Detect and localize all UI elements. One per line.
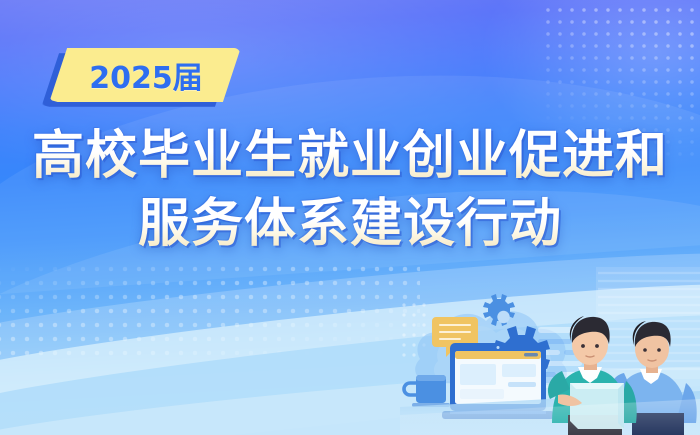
page-title-line-1: 高校毕业生就业创业促进和 [0, 122, 700, 190]
year-badge: 2025届 [50, 48, 240, 102]
year-badge-label: 2025届 [50, 48, 240, 102]
promo-banner: 2025届 高校毕业生就业创业促进和 服务体系建设行动 [0, 0, 700, 435]
page-title-line-2: 服务体系建设行动 [0, 190, 700, 258]
coffee-mug [404, 375, 450, 407]
illustration [400, 265, 700, 435]
page-title: 高校毕业生就业创业促进和 服务体系建设行动 [0, 122, 700, 258]
